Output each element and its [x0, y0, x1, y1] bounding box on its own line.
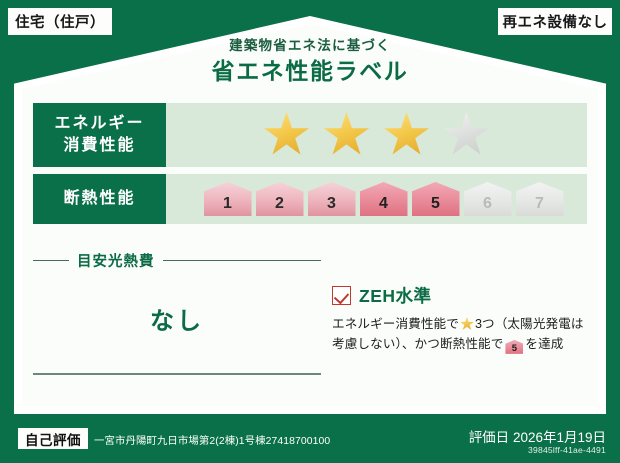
cost-rule-left	[33, 260, 69, 261]
row-insulation-performance: 断熱性能 1234567	[33, 174, 587, 224]
footer-address: 一宮市丹陽町九日市場第2(2棟)1号棟27418700100	[94, 432, 330, 447]
insulation-grade-badge-4: 4	[360, 182, 408, 216]
row-insulation-label-text: 断熱性能	[63, 188, 135, 210]
insulation-grade-badge-2: 2	[256, 182, 304, 216]
cost-heading-text: 目安光熱費	[77, 250, 155, 271]
footer-evaluation-date: 評価日 2026年1月19日	[469, 426, 606, 446]
zeh-desc-part1: エネルギー消費性能で	[332, 317, 459, 331]
page-title: 省エネ性能ラベル	[0, 58, 620, 86]
insulation-grade-badge-6: 6	[464, 182, 512, 216]
cost-value: なし	[33, 301, 321, 336]
insulation-grade-badge-3: 3	[308, 182, 356, 216]
footer-bar: 自己評価 一宮市丹陽町九日市場第2(2棟)1号棟27418700100 評価日 …	[0, 414, 620, 463]
row-energy-label-line2: 消費性能	[63, 135, 135, 157]
cost-heading-row: 目安光熱費	[33, 250, 321, 271]
insulation-grade-badge-5: 5	[412, 182, 460, 216]
rating-rows: エネルギー 消費性能 断熱性能 1234567	[33, 103, 587, 231]
footer-document-id: 39845lff-41ae-4491	[528, 445, 606, 455]
insulation-grade-badge-7: 7	[516, 182, 564, 216]
row-energy-consumption: エネルギー 消費性能	[33, 103, 587, 167]
grade-badge-inline: 5	[505, 340, 523, 354]
title-subtitle: 建築物省エネ法に基づく	[0, 38, 620, 54]
row-energy-label: エネルギー 消費性能	[33, 103, 166, 167]
badge-dwelling-type: 住宅（住戸）	[8, 8, 112, 35]
star-rating	[166, 103, 587, 167]
star-icon-filled	[384, 112, 430, 158]
row-energy-label-line1: エネルギー	[54, 113, 144, 135]
zeh-desc-part3: を達成	[525, 337, 563, 351]
badge-renewable-equipment: 再エネ設備なし	[498, 8, 612, 35]
star-icon-inline	[460, 317, 474, 331]
energy-performance-label: 住宅（住戸） 再エネ設備なし 建築物省エネ法に基づく 省エネ性能ラベル エネルギ…	[0, 0, 620, 463]
zeh-standard-section: ZEH水準 エネルギー消費性能で3つ（太陽光発電は考慮しない）、かつ断熱性能で5…	[332, 283, 584, 355]
insulation-grade-scale: 1234567	[166, 174, 587, 224]
zeh-title-row: ZEH水準	[332, 283, 584, 308]
zeh-description: エネルギー消費性能で3つ（太陽光発電は考慮しない）、かつ断熱性能で5を達成	[332, 315, 584, 355]
zeh-title-text: ZEH水準	[359, 283, 432, 308]
zeh-check-icon	[332, 286, 351, 305]
estimated-utility-cost-section: 目安光熱費 なし	[33, 250, 321, 336]
star-icon-empty	[444, 112, 490, 158]
row-insulation-label: 断熱性能	[33, 174, 166, 224]
cost-section-bottom-rule	[33, 373, 321, 375]
badge-self-evaluation: 自己評価	[18, 428, 88, 449]
star-icon-filled	[324, 112, 370, 158]
star-icon-filled	[264, 112, 310, 158]
insulation-grade-badge-1: 1	[204, 182, 252, 216]
cost-rule-right	[163, 260, 322, 261]
label-title-block: 建築物省エネ法に基づく 省エネ性能ラベル	[0, 38, 620, 86]
